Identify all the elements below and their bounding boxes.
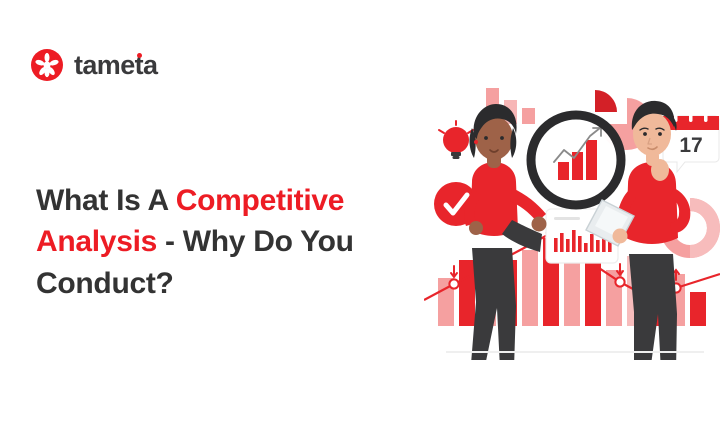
brand-logo-label: tameta: [74, 50, 157, 80]
brand-logo[interactable]: tameta: [30, 48, 157, 82]
headline-part-4: - Why Do You: [157, 225, 354, 258]
page-title: What Is A Competitive Analysis - Why Do …: [36, 180, 416, 304]
headline-part-1: What Is A: [36, 184, 176, 217]
lightbulb-icon: [439, 121, 473, 159]
headline-part-3: Analysis: [36, 225, 157, 258]
competitive-analysis-illustration: 17: [424, 78, 720, 360]
asterisk-flower-icon: [30, 48, 64, 82]
headline-part-5: Conduct?: [36, 267, 174, 300]
page-root: tameta What Is A Competitive Analysis - …: [0, 0, 720, 438]
headline-part-2: Competitive: [176, 184, 344, 217]
brand-logo-text: tameta: [74, 52, 157, 79]
calendar-day-label: 17: [679, 134, 702, 157]
